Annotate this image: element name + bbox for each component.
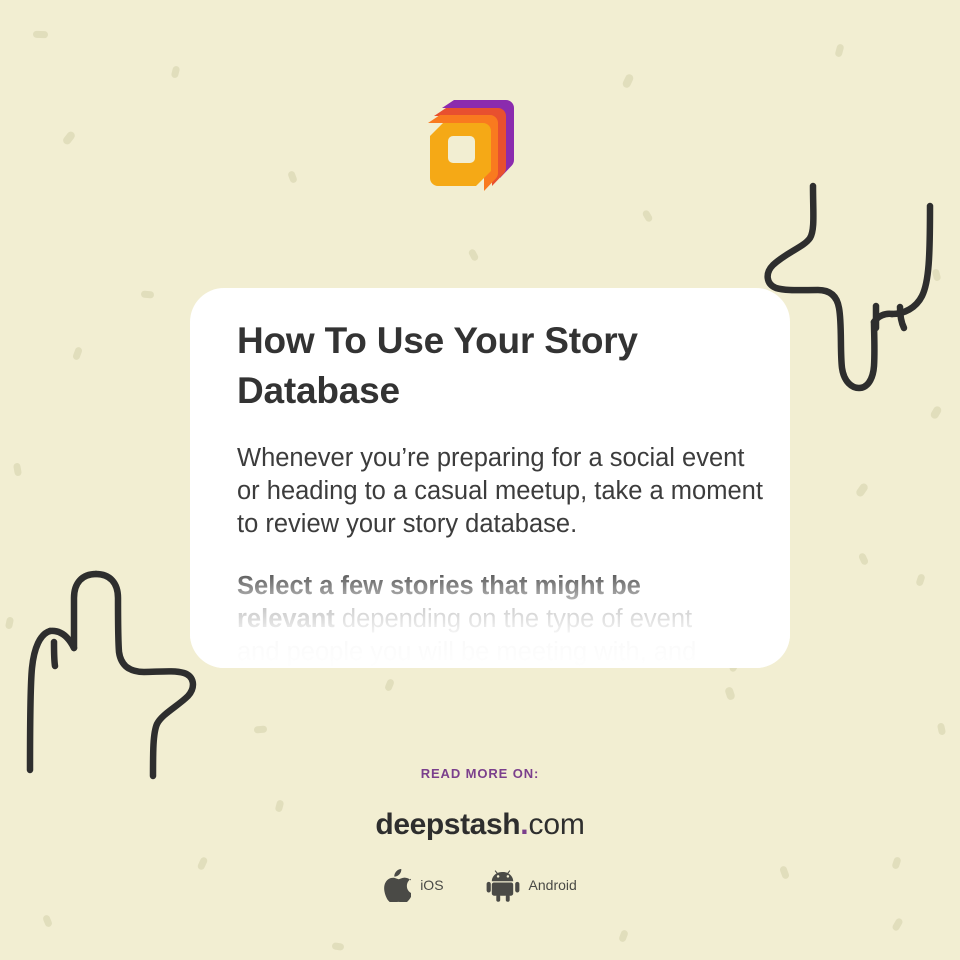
page-title: How To Use Your Story Database	[237, 316, 667, 416]
card-paragraph-intro: Whenever you’re preparing for a social e…	[237, 442, 767, 541]
background-speck	[332, 942, 345, 951]
ios-store-label: iOS	[420, 877, 443, 893]
apple-icon	[383, 869, 411, 902]
deepstash-logo-icon	[424, 96, 528, 200]
read-more-label: READ MORE ON:	[0, 766, 960, 781]
pointing-hand-up-icon	[22, 556, 214, 792]
android-store-label: Android	[529, 877, 577, 893]
background-speck	[384, 678, 395, 692]
background-speck	[62, 130, 77, 146]
background-speck	[932, 268, 942, 281]
background-speck	[33, 31, 48, 39]
background-speck	[13, 462, 22, 476]
background-speck	[618, 929, 629, 943]
background-speck	[5, 616, 14, 629]
content-card: How To Use Your Story Database Whenever …	[190, 288, 790, 668]
background-speck	[858, 552, 869, 566]
ios-store-badge[interactable]: iOS	[383, 869, 443, 902]
footer: READ MORE ON: deepstash.com iOS	[0, 766, 960, 902]
background-speck	[621, 73, 634, 89]
card-paragraph-tip: Select a few stories that might be relev…	[237, 570, 737, 668]
background-speck	[724, 686, 736, 701]
background-speck	[468, 248, 480, 262]
background-speck	[287, 170, 298, 184]
poster-canvas: How To Use Your Story Database Whenever …	[0, 0, 960, 960]
brand-name: deepstash	[375, 808, 520, 841]
background-speck	[929, 405, 942, 420]
background-speck	[141, 290, 155, 298]
card-inner: How To Use Your Story Database Whenever …	[237, 316, 768, 668]
android-store-badge[interactable]: Android	[486, 868, 577, 902]
background-speck	[915, 573, 925, 587]
brand-wordmark[interactable]: deepstash.com	[0, 808, 960, 842]
store-badges: iOS Android	[0, 868, 960, 902]
background-speck	[891, 917, 904, 932]
brand-tld: com	[529, 808, 585, 841]
background-speck	[855, 482, 870, 498]
background-speck	[171, 65, 181, 78]
background-speck	[641, 209, 653, 223]
background-speck	[937, 722, 946, 735]
android-icon	[486, 868, 520, 902]
background-speck	[834, 43, 844, 57]
background-speck	[72, 346, 83, 361]
background-speck	[254, 725, 268, 733]
brand-dot: .	[520, 808, 528, 841]
background-speck	[42, 914, 53, 928]
